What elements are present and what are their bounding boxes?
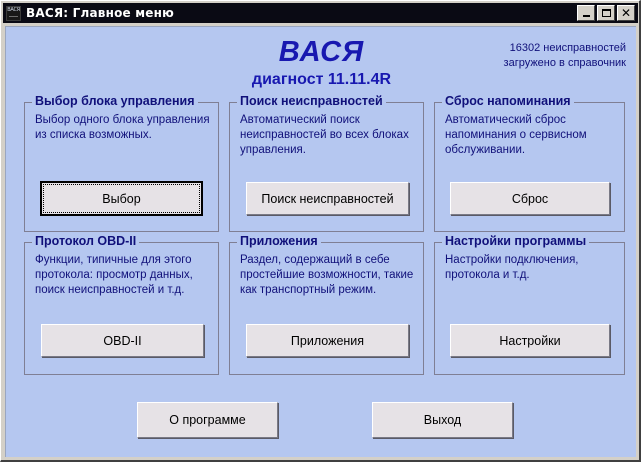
vasya-app-icon: ВАСЯ (6, 6, 21, 21)
app-icon-bar (9, 16, 18, 17)
group-description: Функции, типичные для этого протокола: п… (35, 253, 210, 298)
button-label: О программе (169, 413, 245, 427)
group-legend: Протокол OBD-II (32, 234, 139, 248)
group-legend: Сброс напоминания (442, 94, 574, 108)
group-legend: Выбор блока управления (32, 94, 198, 108)
group-legend: Приложения (237, 234, 321, 248)
client-area: ВАСЯ диагност 11.11.4R 16302 неисправнос… (5, 26, 636, 457)
group-service-reset: Сброс напоминания Автоматический сброс н… (434, 102, 625, 232)
window-title: ВАСЯ: Главное меню (26, 6, 174, 20)
button-label: Настройки (499, 334, 560, 348)
group-legend: Настройки программы (442, 234, 589, 248)
about-button[interactable]: О программе (137, 402, 278, 438)
brand-subtitle: диагност 11.11.4R (6, 71, 637, 89)
group-obd2-protocol: Протокол OBD-II Функции, типичные для эт… (24, 242, 219, 375)
button-label: Выбор (102, 192, 140, 206)
button-label: Приложения (291, 334, 364, 348)
maximize-icon (602, 9, 611, 17)
group-legend: Поиск неисправностей (237, 94, 386, 108)
close-icon: ✕ (621, 7, 631, 19)
button-label: Выход (424, 413, 461, 427)
group-description: Автоматический поиск неисправностей во в… (240, 113, 415, 158)
button-label: Сброс (512, 192, 548, 206)
main-window: ВАСЯ ВАСЯ: Главное меню ✕ ВАСЯ диагност … (0, 0, 641, 462)
fault-count-info: 16302 неисправностей загружено в справоч… (396, 41, 626, 71)
minimize-button[interactable] (577, 5, 595, 21)
button-label: OBD-II (103, 334, 141, 348)
app-icon-text: ВАСЯ (7, 8, 20, 13)
group-control-module-selection: Выбор блока управления Выбор одного блок… (24, 102, 219, 232)
service-reset-button[interactable]: Сброс (450, 182, 610, 215)
fault-count-line-2: загружено в справочник (396, 56, 626, 71)
minimize-icon (583, 15, 590, 17)
close-button[interactable]: ✕ (617, 5, 635, 21)
exit-button[interactable]: Выход (372, 402, 513, 438)
group-description: Выбор одного блока управления из списка … (35, 113, 210, 143)
settings-button[interactable]: Настройки (450, 324, 610, 357)
fault-search-button[interactable]: Поиск неисправностей (246, 182, 409, 215)
button-label: Поиск неисправностей (261, 192, 393, 206)
title-bar: ВАСЯ ВАСЯ: Главное меню ✕ (3, 3, 638, 23)
maximize-button[interactable] (597, 5, 615, 21)
fault-count-line-1: 16302 неисправностей (396, 41, 626, 56)
group-description: Раздел, содержащий в себе простейшие воз… (240, 253, 415, 298)
group-applications: Приложения Раздел, содержащий в себе про… (229, 242, 424, 375)
group-fault-search: Поиск неисправностей Автоматический поис… (229, 102, 424, 232)
group-description: Настройки подключения, протокола и т.д. (445, 253, 616, 283)
applications-button[interactable]: Приложения (246, 324, 409, 357)
select-module-button[interactable]: Выбор (40, 181, 203, 216)
group-description: Автоматический сброс напоминания о серви… (445, 113, 616, 158)
obd2-button[interactable]: OBD-II (41, 324, 204, 357)
window-controls: ✕ (577, 5, 636, 21)
group-program-settings: Настройки программы Настройки подключени… (434, 242, 625, 375)
